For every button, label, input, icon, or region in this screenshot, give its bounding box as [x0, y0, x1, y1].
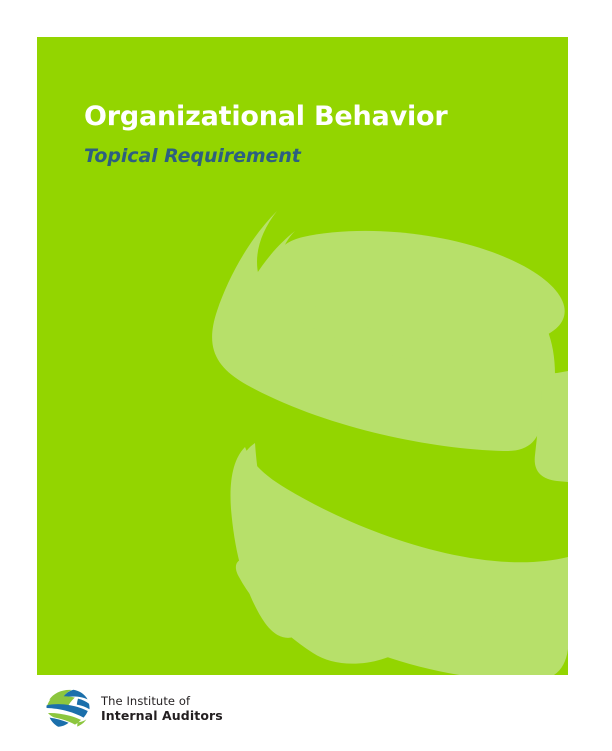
organization-name-line-1: The Institute of	[101, 694, 223, 708]
cover-title-block: Organizational Behavior Topical Requirem…	[84, 100, 524, 168]
document-page: Organizational Behavior Topical Requirem…	[0, 0, 612, 751]
cover-hero-panel: Organizational Behavior Topical Requirem…	[37, 37, 568, 675]
organization-name-line-2: Internal Auditors	[101, 708, 223, 723]
page-title: Organizational Behavior	[84, 100, 524, 134]
footer-logo-lockup: The Institute of Internal Auditors	[45, 684, 223, 732]
iia-globe-logo-icon	[45, 686, 91, 730]
organization-wordmark: The Institute of Internal Auditors	[101, 694, 223, 723]
page-subtitle: Topical Requirement	[84, 144, 524, 168]
